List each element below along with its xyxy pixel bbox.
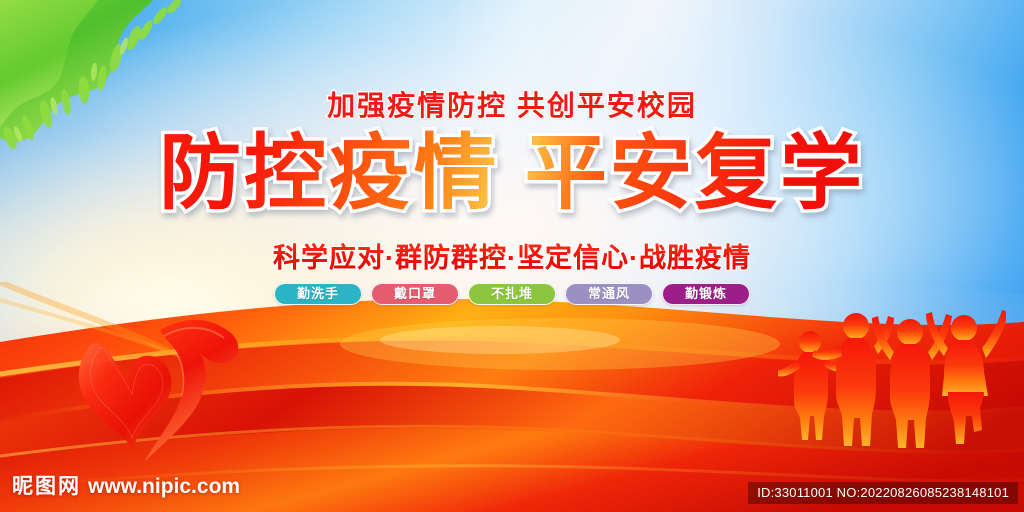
subtitle-outline: 科学应对·群防群控·坚定信心·战胜疫情 — [0, 236, 1024, 275]
four-children-silhouette — [776, 298, 1006, 458]
main-headline-outline: 防控疫情 平安复学 — [0, 128, 1024, 220]
prevention-tip-pill: 常通风 — [565, 283, 653, 305]
image-id-badge: ID:33011001 NO:20220826085238148101 — [748, 482, 1018, 504]
top-slogan: 加强疫情防控 共创平安校园 — [0, 84, 1024, 124]
top-slogan-text: 加强疫情防控 共创平安校园 — [327, 90, 697, 121]
watermark-url: www.nipic.com — [88, 475, 240, 499]
prevention-tip-pill: 戴口罩 — [371, 283, 459, 305]
poster-canvas: 加强疫情防控 共创平安校园 防控疫情 平安复学 防控疫情 平安复学 科学应对·群… — [0, 0, 1024, 512]
prevention-tip-pill: 不扎堆 — [468, 283, 556, 305]
watermark-brand: 昵图网 — [12, 470, 81, 500]
prevention-tips-pill-list: 勤洗手戴口罩不扎堆常通风勤锻炼 — [0, 283, 1024, 305]
red-ribbon-heart — [60, 300, 290, 475]
prevention-tip-pill: 勤洗手 — [274, 283, 362, 305]
prevention-tip-pill: 勤锻炼 — [662, 283, 750, 305]
site-watermark: 昵图网 www.nipic.com — [12, 470, 240, 500]
